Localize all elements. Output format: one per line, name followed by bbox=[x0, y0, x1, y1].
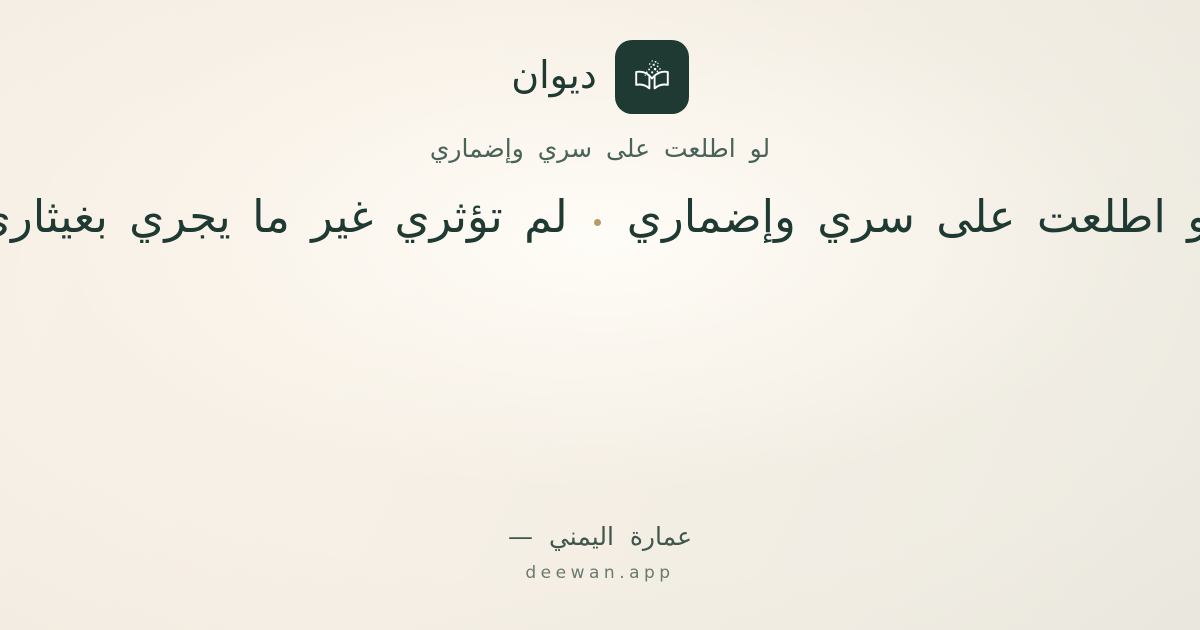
open-book-sparkles-icon bbox=[630, 55, 674, 99]
poet-attribution: عمارة اليمني — bbox=[508, 521, 692, 554]
quote-card: ديوان لو اطلعت على سري وإضماري لو اطلعت … bbox=[0, 0, 1200, 630]
brand-header: ديوان bbox=[511, 40, 689, 114]
verse-container: لو اطلعت على سري وإضماري لم تؤثري غير ما… bbox=[0, 174, 1200, 260]
verse-hemistich-first: لو اطلعت على سري وإضماري bbox=[627, 184, 1200, 249]
site-url: deewan.app bbox=[525, 562, 674, 584]
poem-title: لو اطلعت على سري وإضماري bbox=[430, 132, 770, 166]
hemistich-separator-dot bbox=[594, 219, 601, 226]
card-footer: عمارة اليمني — deewan.app bbox=[0, 521, 1200, 584]
deewan-logo-tile bbox=[615, 40, 689, 114]
verse: لو اطلعت على سري وإضماري لم تؤثري غير ما… bbox=[0, 184, 1200, 249]
verse-hemistich-second: لم تؤثري غير ما يجري بغيثاري bbox=[0, 184, 568, 249]
brand-name: ديوان bbox=[511, 56, 597, 98]
